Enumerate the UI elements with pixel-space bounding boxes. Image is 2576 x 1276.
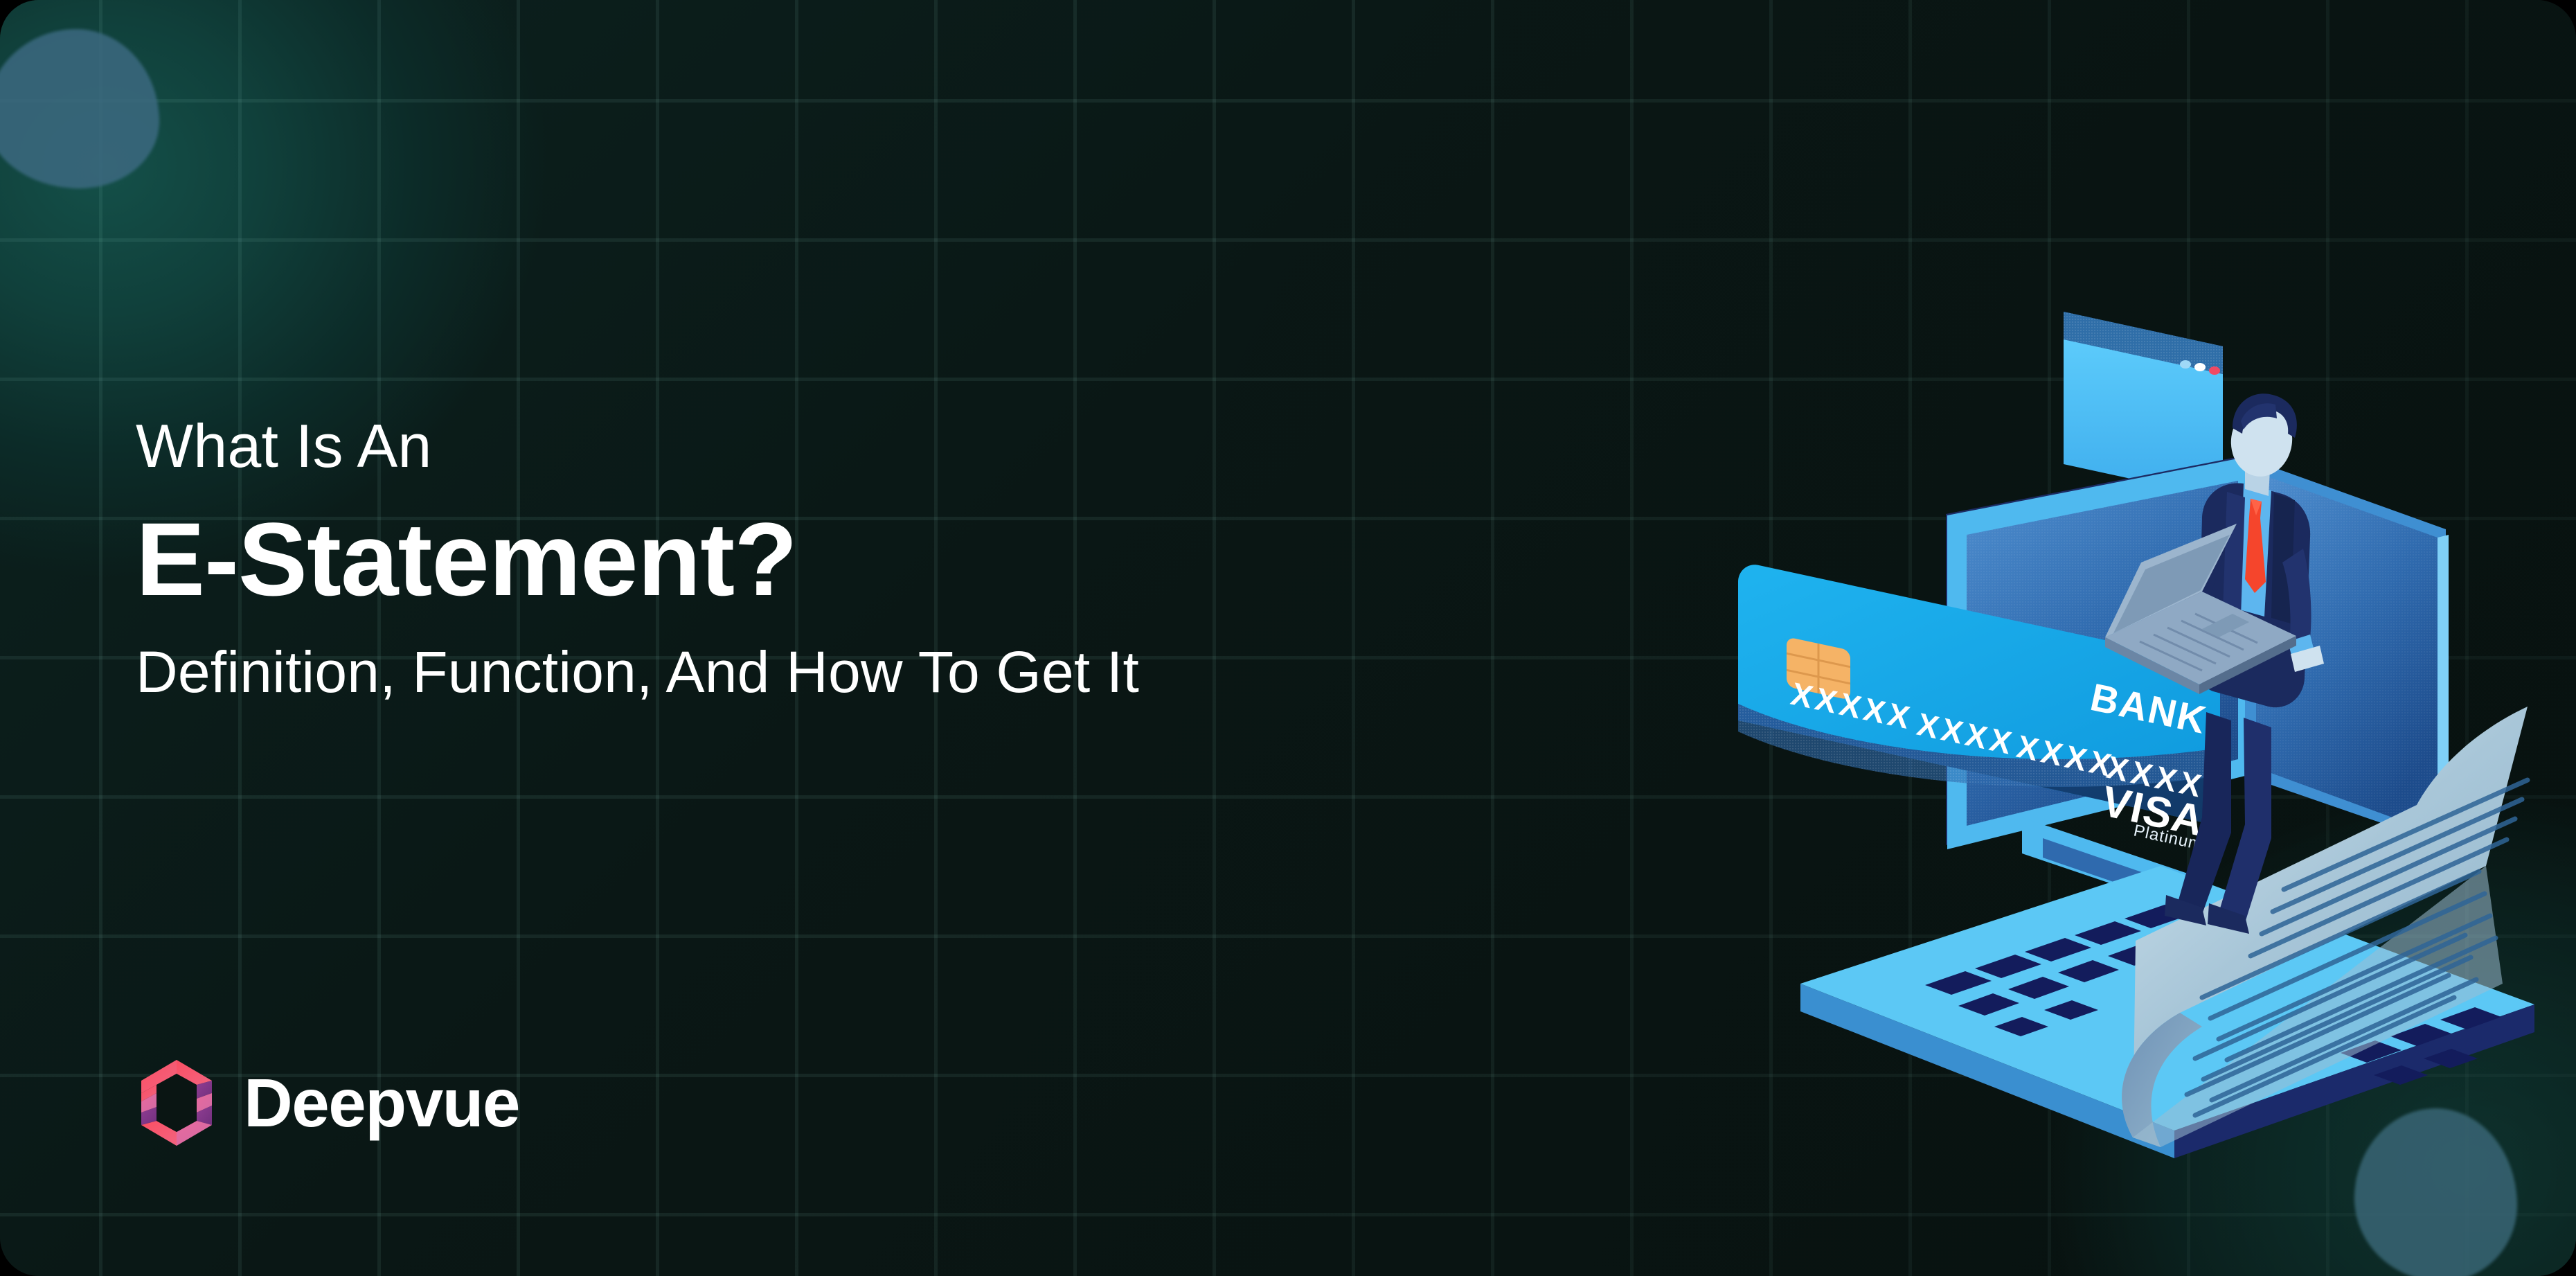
e-statement-illustration: XXXXX XXXX XXXX XXXX BANK VISA Platinum bbox=[1717, 291, 2562, 1247]
deepvue-hexagon-icon bbox=[136, 1058, 217, 1147]
eyebrow-text: What Is An bbox=[136, 416, 1451, 477]
page-title: E-Statement? bbox=[136, 503, 1451, 615]
brand-logo[interactable]: Deepvue bbox=[136, 1058, 519, 1147]
blog-banner: What Is An E-Statement? Definition, Func… bbox=[0, 0, 2576, 1276]
subtitle-text: Definition, Function, And How To Get It bbox=[136, 643, 1451, 701]
brand-wordmark: Deepvue bbox=[244, 1069, 519, 1137]
headline-block: What Is An E-Statement? Definition, Func… bbox=[136, 416, 1451, 701]
